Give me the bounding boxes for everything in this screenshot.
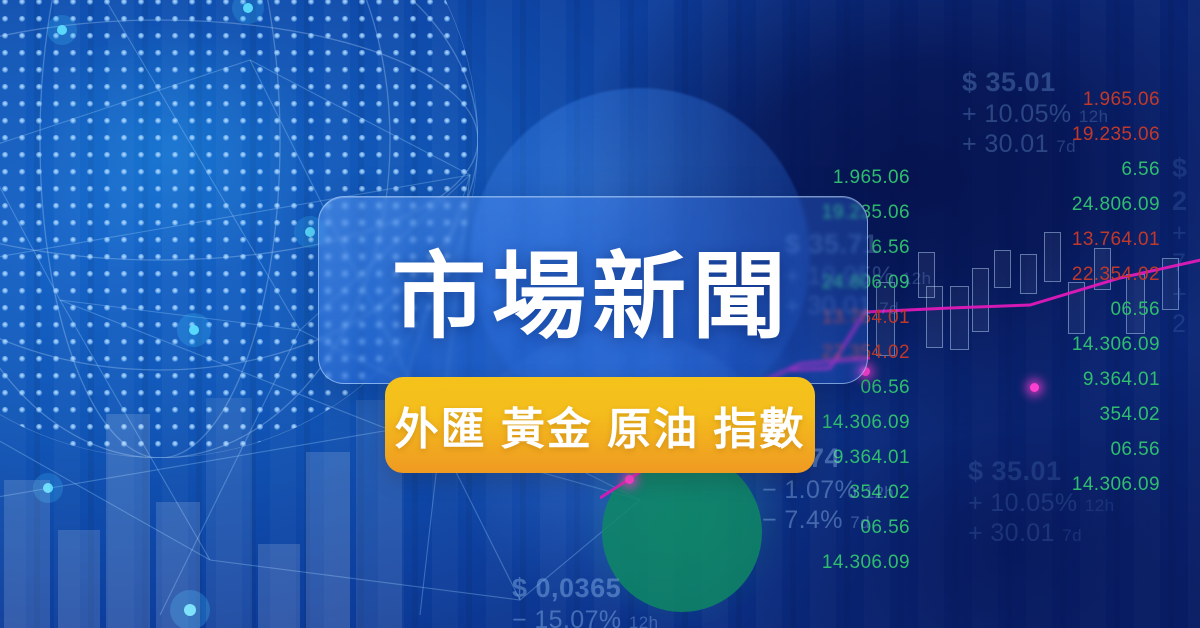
ticker-value: 24.806.09 [990, 187, 1160, 222]
quote-far-right: $ 2 + 7 + 2 [1172, 152, 1200, 340]
subtitle-label: 外匯 黃金 原油 指數 [395, 393, 806, 457]
market-news-banner: 1.965.06 19.235.06 6.56 24.806.09 13.764… [0, 0, 1200, 628]
quote-change-12h: − 1.07% 12h [762, 475, 894, 506]
quote-price: $ 0,0365 [512, 572, 658, 605]
ticker-value: 14.306.09 [740, 545, 910, 580]
quote-change-12h: + 10.05% 12h [962, 99, 1108, 130]
subtitle-pill: 外匯 黃金 原油 指數 [385, 377, 815, 473]
quote-change-12h: + 7 [1172, 218, 1200, 279]
quote-top-center: $ 35.01 + 10.05% 12h + 30.01 7d [962, 66, 1108, 160]
quote-change-7d: + 30.01 7d [968, 518, 1114, 549]
quote-change-12h: + 10.05% 12h [968, 488, 1114, 519]
quote-price: $ 2 [1172, 152, 1200, 218]
page-title: 市場新聞 [318, 196, 866, 382]
quote-bottom-right: $ 35.01 + 10.05% 12h + 30.01 7d [968, 455, 1114, 549]
trend-node-3 [625, 475, 634, 484]
quote-change-7d: − 7.4% 7d [762, 505, 894, 536]
ticker-value: 06.56 [990, 292, 1160, 327]
quote-change-7d: + 2 [1172, 279, 1200, 340]
ticker-value: 13.764.01 [990, 222, 1160, 257]
quote-bottom-left: $ 0,0365 − 15.07% 12h − 45.4% 7d [512, 572, 658, 628]
quote-change-7d: + 30.01 7d [962, 129, 1108, 160]
quote-price: $ 35.01 [968, 455, 1114, 488]
ticker-value: 9.364.01 [990, 362, 1160, 397]
bar-chart-decor [0, 398, 420, 628]
ticker-value: 1.965.06 [740, 160, 910, 195]
quote-change-12h: − 15.07% 12h [512, 605, 658, 628]
ticker-value: 14.306.09 [990, 327, 1160, 362]
quote-price: $ 35.01 [962, 66, 1108, 99]
ticker-value: 22.354.02 [990, 257, 1160, 292]
ticker-value: 354.02 [990, 397, 1160, 432]
